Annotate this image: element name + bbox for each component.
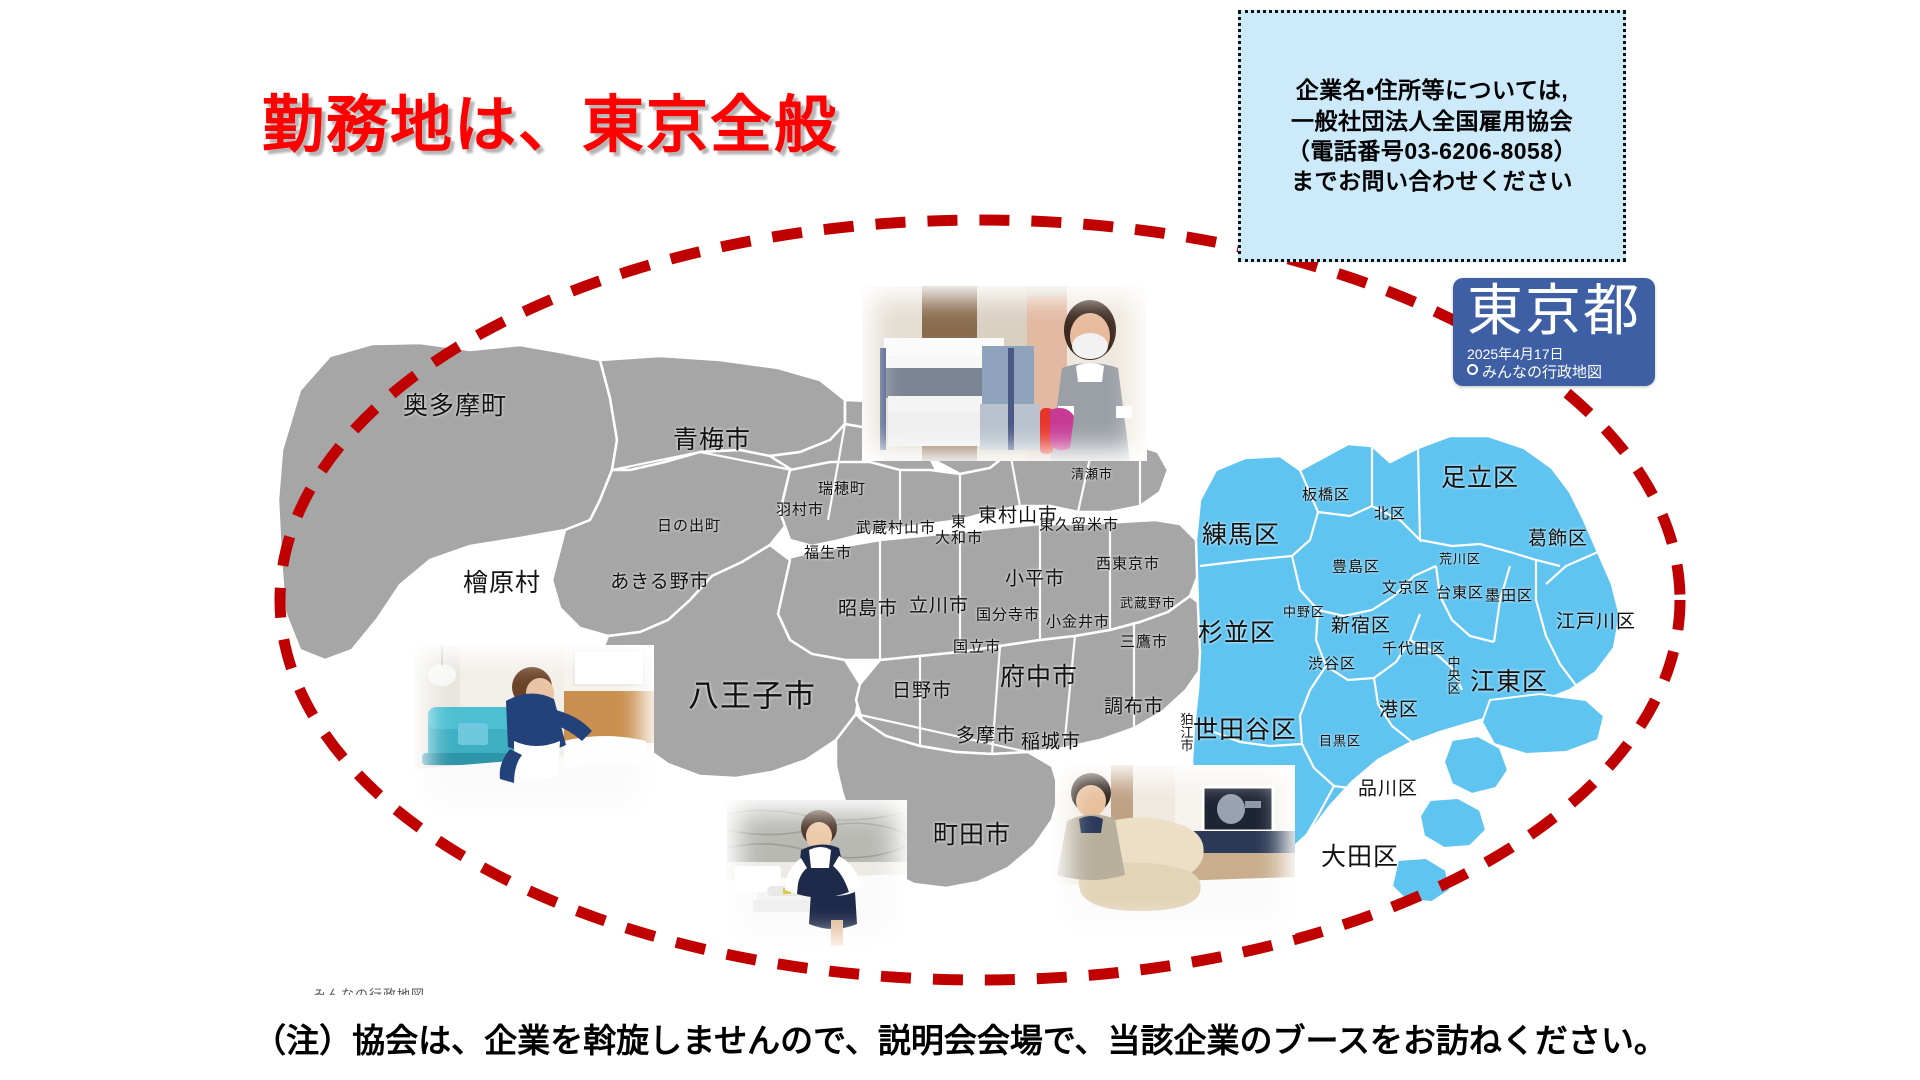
- footer-note: （注）協会は、企業を斡旋しませんので、説明会会場で、当該企業のブースをお訪ねくだ…: [0, 1014, 1920, 1062]
- slide-root: 奥多摩町 青梅市 檜原村 あきる野市 日の出町 瑞穂町 羽村市 福生市 武蔵村山…: [0, 0, 1920, 1080]
- map-label-koto: 江東区: [1470, 662, 1548, 698]
- photo-housekeeper-folding-towels: [727, 800, 907, 948]
- map-label-nishitokyo: 西東京市: [1096, 553, 1160, 574]
- map-label-hinohara: 檜原村: [463, 563, 541, 599]
- map-label-setagaya: 世田谷区: [1193, 710, 1297, 746]
- map-label-akiruno: あきる野市: [610, 567, 710, 594]
- map-label-edogawa: 江戸川区: [1556, 607, 1636, 634]
- clipped-attribution-text: みんなの行政地図: [313, 982, 425, 995]
- map-label-shibuya: 渋谷区: [1308, 653, 1356, 674]
- map-label-ome: 青梅市: [673, 420, 751, 456]
- map-label-hachioji: 八王子市: [688, 671, 816, 716]
- map-label-machida: 町田市: [933, 815, 1011, 851]
- map-label-katsushika: 葛飾区: [1528, 524, 1588, 551]
- tokyo-map-badge: 東京都 2025年4月17日 みんなの行政地図: [1453, 278, 1655, 386]
- photo-housekeeper-with-pillows: [1055, 765, 1295, 935]
- map-label-sumida: 墨田区: [1485, 585, 1533, 606]
- map-label-nerima: 練馬区: [1202, 515, 1280, 551]
- map-label-ota: 大田区: [1321, 837, 1399, 873]
- map-label-higashikurume: 東久留米市: [1039, 514, 1119, 535]
- map-label-kokubunji: 国分寺市: [976, 604, 1040, 625]
- badge-source: みんなの行政地図: [1482, 361, 1602, 382]
- page-title: 勤務地は、東京全般: [262, 74, 838, 164]
- contact-line-4: までお問い合わせください: [1291, 166, 1573, 196]
- map-label-kunitachi: 国立市: [953, 636, 1001, 657]
- map-label-chofu: 調布市: [1104, 692, 1164, 719]
- map-label-kodaira: 小平市: [1005, 564, 1065, 591]
- contact-line-1: 企業名・住所等については,: [1296, 75, 1569, 105]
- map-label-musashino: 武蔵野市: [1120, 593, 1176, 612]
- map-label-musashimurayama: 武蔵村山市: [856, 517, 936, 538]
- map-label-fuchu: 府中市: [1000, 657, 1078, 693]
- map-label-taito: 台東区: [1436, 582, 1484, 603]
- contact-line-3: （電話番号03-6206-8058）: [1287, 136, 1577, 166]
- map-label-fussa: 福生市: [804, 542, 852, 563]
- badge-title: 東京都: [1467, 280, 1641, 342]
- map-label-kiyose: 清瀬市: [1071, 464, 1113, 483]
- map-label-mitaka: 三鷹市: [1120, 631, 1168, 652]
- map-label-adachi: 足立区: [1441, 458, 1519, 494]
- map-label-minato: 港区: [1379, 695, 1419, 722]
- map-label-mizuho: 瑞穂町: [818, 478, 866, 499]
- map-label-higashiyamato-line1: 東: [951, 513, 967, 530]
- photo-housekeeper-linen-cart: [862, 286, 1147, 461]
- map-label-meguro: 目黒区: [1319, 731, 1361, 750]
- map-label-nakano: 中野区: [1283, 602, 1325, 621]
- contact-line-2: 一般社団法人全国雇用協会: [1291, 106, 1573, 136]
- map-label-tachikawa: 立川市: [909, 591, 969, 618]
- map-label-shinagawa: 品川区: [1358, 774, 1418, 801]
- map-label-hamura: 羽村市: [776, 499, 824, 520]
- map-label-akishima: 昭島市: [838, 594, 898, 621]
- map-label-chuo: 中央区: [1444, 656, 1463, 695]
- map-label-higashiyamato-line2: 大和市: [935, 529, 983, 546]
- map-label-kita: 北区: [1374, 503, 1406, 524]
- contact-info-box: 企業名・住所等については, 一般社団法人全国雇用協会 （電話番号03-6206-…: [1238, 10, 1626, 262]
- map-label-koganei: 小金井市: [1046, 611, 1110, 632]
- circle-logo-icon: [1467, 364, 1478, 375]
- map-label-shinjuku: 新宿区: [1331, 611, 1391, 638]
- map-label-bunkyo: 文京区: [1382, 577, 1430, 598]
- photo-housekeeper-making-bed: [414, 645, 654, 817]
- map-label-suginami: 杉並区: [1198, 613, 1276, 649]
- map-label-hino: 日野市: [892, 676, 952, 703]
- map-label-toshima: 豊島区: [1332, 556, 1380, 577]
- map-label-arakawa: 荒川区: [1439, 549, 1481, 568]
- map-label-hinode: 日の出町: [657, 515, 721, 536]
- map-label-itabashi: 板橋区: [1302, 484, 1350, 505]
- map-label-tama: 多摩市: [956, 721, 1016, 748]
- map-label-higashiyamato: 東 大和市: [935, 514, 983, 546]
- map-label-inagi: 稲城市: [1021, 727, 1081, 754]
- map-label-chiyoda: 千代田区: [1382, 638, 1446, 659]
- map-label-okutama: 奥多摩町: [403, 386, 507, 422]
